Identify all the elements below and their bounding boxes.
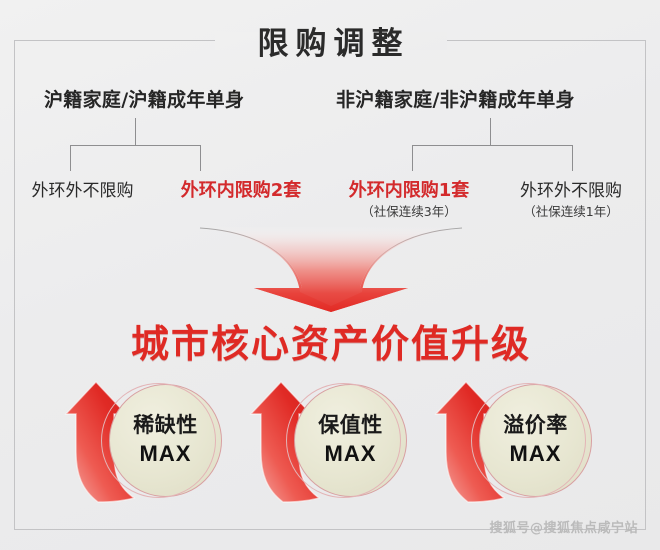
leaf-main-4: 外环外不限购 [495, 182, 647, 202]
badge-label-max: MAX [325, 440, 377, 468]
badge-label-cn: 稀缺性 [133, 413, 198, 438]
badge-label-max: MAX [140, 440, 192, 468]
badge-value-retention: 保值性 MAX [237, 378, 437, 503]
page-title: 限购调整 [0, 18, 660, 63]
connector-drop-right-2 [572, 145, 573, 171]
connector-stem-left [135, 118, 136, 145]
leaf-label-4: 外环外不限购 （社保连续1年） [495, 182, 647, 218]
badge-scarcity: 稀缺性 MAX [52, 378, 252, 503]
badge-text: 保值性 MAX [294, 384, 407, 497]
leaf-main-2: 外环内限购2套 [162, 181, 320, 202]
leaf-label-2: 外环内限购2套 [162, 181, 320, 205]
hero-headline: 城市核心资产价值升级 [0, 313, 660, 368]
leaf-main-3: 外环内限购1套 [330, 181, 488, 202]
watermark: 搜狐号@搜狐焦点咸宁站 [489, 517, 638, 536]
badge-row: 稀缺性 MAX [0, 378, 660, 503]
category-header-local: 沪籍家庭/沪籍成年单身 [44, 85, 244, 112]
connector-drop-left-1 [70, 145, 71, 171]
badge-premium-rate: 溢价率 MAX [422, 378, 622, 503]
connector-drop-left-2 [200, 145, 201, 171]
badge-label-cn: 溢价率 [503, 413, 568, 438]
connector-bar-left [70, 145, 200, 146]
badge-text: 溢价率 MAX [479, 384, 592, 497]
infographic-canvas: 限购调整 沪籍家庭/沪籍成年单身 非沪籍家庭/非沪籍成年单身 外环外不限购 外环… [0, 0, 660, 550]
leaf-sub-4: （社保连续1年） [495, 205, 647, 219]
funnel-down-arrow-icon [198, 226, 464, 314]
badge-text: 稀缺性 MAX [109, 384, 222, 497]
badge-label-cn: 保值性 [318, 413, 383, 438]
connector-bar-right [412, 145, 572, 146]
leaf-label-3: 外环内限购1套 （社保连续3年） [330, 181, 488, 218]
leaf-main-1: 外环外不限购 [10, 182, 155, 202]
category-header-nonlocal: 非沪籍家庭/非沪籍成年单身 [336, 85, 575, 112]
leaf-sub-3: （社保连续3年） [330, 205, 488, 219]
leaf-label-1: 外环外不限购 [10, 182, 155, 205]
connector-stem-right [490, 118, 491, 145]
badge-label-max: MAX [510, 440, 562, 468]
connector-drop-right-1 [412, 145, 413, 171]
